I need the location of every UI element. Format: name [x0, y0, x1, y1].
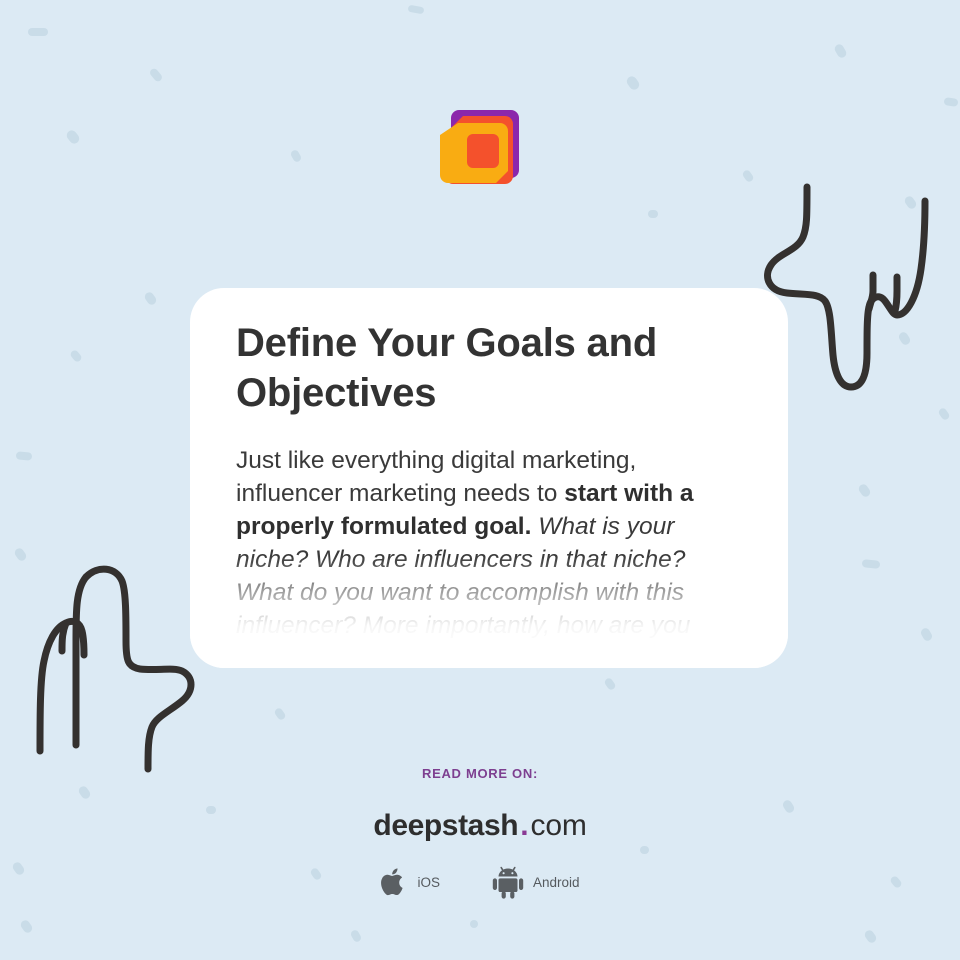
confetti-dash [148, 67, 163, 83]
confetti-dash [862, 559, 881, 569]
confetti-dash [350, 929, 363, 943]
read-more-label: READ MORE ON: [0, 766, 960, 781]
page-title: Define Your Goals and Objectives [236, 318, 742, 418]
ios-badge[interactable]: iOS [380, 866, 440, 898]
confetti-dash [863, 929, 878, 945]
confetti-dash [603, 677, 616, 691]
confetti-dash [897, 331, 912, 347]
brand-name: deepstash [373, 809, 518, 842]
confetti-dash [903, 195, 918, 211]
confetti-dash [143, 291, 158, 307]
confetti-dash [69, 349, 83, 363]
idea-card-body: Just like everything digital marketing, … [236, 444, 742, 668]
confetti-dash [13, 547, 28, 563]
logo-container [0, 104, 960, 192]
deepstash-logo [437, 104, 523, 192]
confetti-dash [937, 407, 950, 421]
idea-card: Define Your Goals and Objectives Just li… [190, 288, 788, 668]
confetti-dash [919, 627, 933, 643]
confetti-dash [408, 5, 425, 15]
confetti-dash [16, 451, 33, 460]
confetti-dash [273, 707, 286, 721]
brand-dot: . [518, 809, 530, 842]
confetti-dash [19, 919, 34, 935]
confetti-dash [833, 43, 848, 60]
pointing-hand-illustration-left [18, 555, 218, 790]
android-icon [492, 865, 524, 899]
confetti-dash [28, 28, 48, 36]
android-badge[interactable]: Android [492, 865, 580, 899]
idea-card-content: Define Your Goals and Objectives Just li… [190, 288, 788, 668]
confetti-dash [625, 74, 641, 91]
brand-wordmark[interactable]: deepstash.com [0, 809, 960, 843]
confetti-dash [470, 920, 478, 928]
apple-icon [380, 866, 408, 898]
android-label: Android [533, 875, 580, 890]
brand-tld: com [531, 809, 587, 842]
confetti-dash [648, 210, 658, 218]
ios-label: iOS [417, 875, 440, 890]
footer: READ MORE ON: deepstash.com iOS [0, 766, 960, 899]
app-store-badges: iOS [0, 865, 960, 899]
confetti-dash [857, 483, 872, 499]
